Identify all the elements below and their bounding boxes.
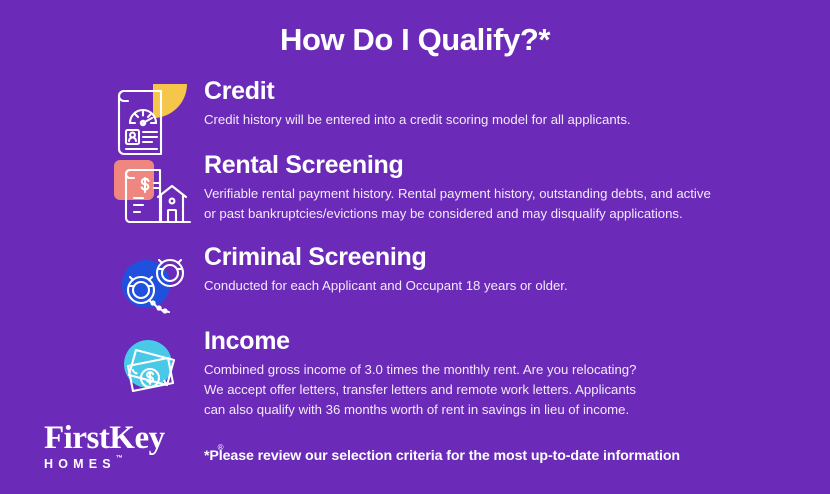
rental-receipt-house-icon [108,150,200,236]
section-criminal-heading: Criminal Screening [204,242,804,272]
qualification-infographic: How Do I Qualify?* [0,0,830,494]
section-criminal-text: Conducted for each Applicant and Occupan… [204,276,804,296]
firstkey-homes-logo: FirstKey® HOMES™ [44,421,214,473]
section-credit-heading: Credit [204,76,804,106]
section-criminal-body: Criminal Screening Conducted for each Ap… [204,242,804,296]
section-rental-line-2: or past bankruptcies/evictions may be co… [204,204,804,224]
footnote-disclaimer: *Please review our selection criteria fo… [204,448,680,464]
section-income-line-1: Combined gross income of 3.0 times the m… [204,360,804,380]
section-credit-text: Credit history will be entered into a cr… [204,110,804,130]
section-rental-line-1: Verifiable rental payment history. Renta… [204,184,804,204]
banknotes-icon [108,326,200,412]
section-income-heading: Income [204,326,804,356]
section-income-line-3: can also qualify with 36 months worth of… [204,400,804,420]
logo-subtext: HOMES™ [44,457,116,471]
logo-wordmark-text: FirstKey [44,420,165,456]
section-income-body: Income Combined gross income of 3.0 time… [204,326,804,420]
handcuffs-icon [108,242,200,328]
section-rental-heading: Rental Screening [204,150,804,180]
section-rental-body: Rental Screening Verifiable rental payme… [204,150,804,224]
section-credit-line-1: Credit history will be entered into a cr… [204,110,804,130]
section-criminal-line-1: Conducted for each Applicant and Occupan… [204,276,804,296]
logo-wordmark: FirstKey® [44,421,214,455]
logo-trademark-mark: ™ [116,455,123,462]
section-income-line-2: We accept offer letters, transfer letter… [204,380,804,400]
section-rental-text: Verifiable rental payment history. Renta… [204,184,804,224]
logo-subtext-text: HOMES [44,457,116,471]
section-credit-body: Credit Credit history will be entered in… [204,76,804,130]
section-income-text: Combined gross income of 3.0 times the m… [204,360,804,420]
page-title: How Do I Qualify?* [0,22,830,58]
